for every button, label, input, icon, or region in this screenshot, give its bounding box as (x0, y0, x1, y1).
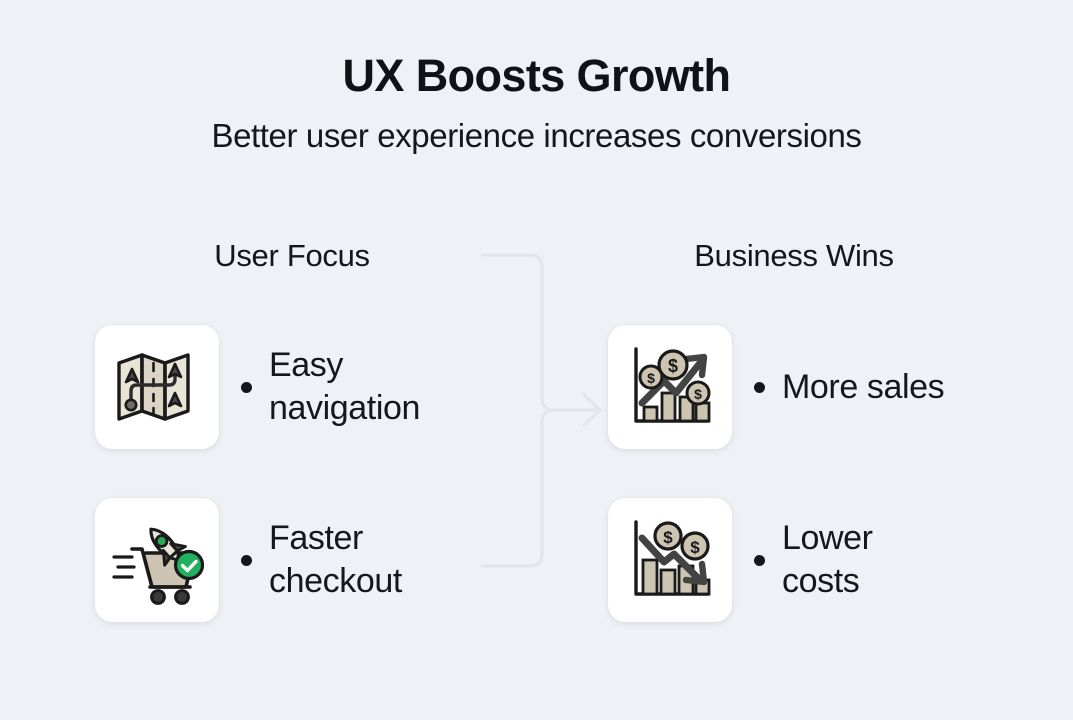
list-item[interactable]: Faster checkout (95, 498, 402, 622)
svg-text:$: $ (663, 528, 673, 547)
icon-card-faster-checkout (95, 498, 219, 622)
svg-text:$: $ (690, 538, 700, 557)
rising-chart-money-icon: $ $ $ (624, 341, 716, 433)
svg-text:$: $ (647, 370, 655, 386)
list-item-label: Easy navigation (269, 344, 420, 430)
column-heading-business-wins: Business Wins (614, 238, 974, 274)
svg-text:$: $ (694, 386, 702, 402)
bullet-dot (754, 555, 765, 566)
list-item-label: Lower costs (782, 517, 873, 603)
bullet-dot (754, 382, 765, 393)
page-subtitle: Better user experience increases convers… (0, 117, 1073, 155)
infographic-root: UX Boosts Growth Better user experience … (0, 0, 1073, 720)
header: UX Boosts Growth Better user experience … (0, 52, 1073, 155)
list-item[interactable]: Easy navigation (95, 325, 420, 449)
map-route-icon (111, 341, 203, 433)
merge-arrow-right-icon (478, 248, 608, 573)
bullet-dot (241, 382, 252, 393)
list-item[interactable]: $ $ Lower costs (608, 498, 873, 622)
list-item-label: Faster checkout (269, 517, 402, 603)
rocket-cart-icon (110, 513, 204, 607)
icon-card-easy-navigation (95, 325, 219, 449)
falling-chart-money-icon: $ $ (624, 514, 716, 606)
page-title: UX Boosts Growth (0, 52, 1073, 101)
icon-card-more-sales: $ $ $ (608, 325, 732, 449)
list-item-label: More sales (782, 366, 944, 409)
svg-text:$: $ (668, 356, 678, 376)
list-item[interactable]: $ $ $ More sales (608, 325, 944, 449)
column-heading-user-focus: User Focus (112, 238, 472, 274)
connector (478, 248, 608, 573)
bullet-dot (241, 555, 252, 566)
icon-card-lower-costs: $ $ (608, 498, 732, 622)
